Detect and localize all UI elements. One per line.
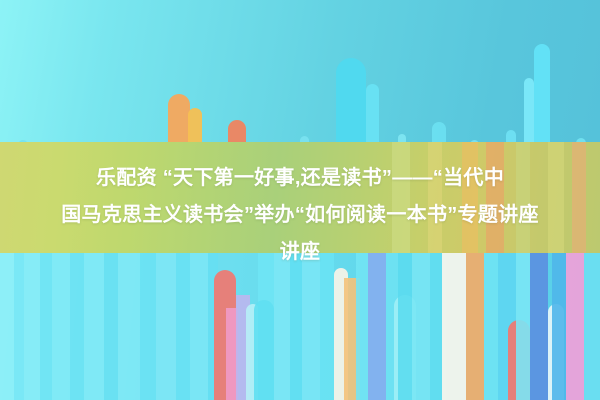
upper-bar xyxy=(534,44,550,156)
book-bar xyxy=(70,253,84,400)
book-bar xyxy=(320,253,334,400)
book-bar xyxy=(356,253,368,400)
headline-line-2: 国马克思主义读书会”举办“如何阅读一本书”专题讲座 xyxy=(8,197,592,234)
headline-text: 乐配资 “天下第一好事,还是读书”——“当代中 国马克思主义读书会”举办“如何阅… xyxy=(0,160,600,271)
book-bar xyxy=(40,253,52,400)
book-bar xyxy=(14,253,24,400)
book-bar xyxy=(254,300,274,400)
banner-image: 乐配资 “天下第一好事,还是读书”——“当代中 国马克思主义读书会”举办“如何阅… xyxy=(0,0,600,400)
book-bar xyxy=(368,253,386,400)
book-bar xyxy=(398,253,412,400)
headline-line-3: 讲座 xyxy=(8,234,592,271)
book-bar xyxy=(190,253,208,400)
book-bar xyxy=(274,253,290,400)
headline-line-1: 乐配资 “天下第一好事,还是读书”——“当代中 xyxy=(8,160,592,197)
book-bar xyxy=(84,253,104,400)
book-bar xyxy=(530,253,548,400)
upper-bar-group xyxy=(0,0,600,156)
book-bar xyxy=(24,253,40,400)
book-bar xyxy=(584,253,600,400)
book-bar xyxy=(140,253,156,400)
lower-bookshelf-group xyxy=(0,253,600,400)
book-bar xyxy=(566,253,584,400)
book-bar xyxy=(118,253,140,400)
book-bar xyxy=(290,253,302,400)
book-bar xyxy=(466,253,484,400)
book-bar xyxy=(442,253,466,400)
book-bar xyxy=(104,253,118,400)
book-bar xyxy=(516,253,530,400)
book-bar xyxy=(552,253,566,400)
book-bar xyxy=(302,253,320,400)
book-bar xyxy=(412,253,430,400)
book-bar xyxy=(156,253,176,400)
book-bar xyxy=(176,253,190,400)
book-bar xyxy=(52,253,70,400)
book-bar xyxy=(484,253,498,400)
book-bar xyxy=(0,253,14,400)
